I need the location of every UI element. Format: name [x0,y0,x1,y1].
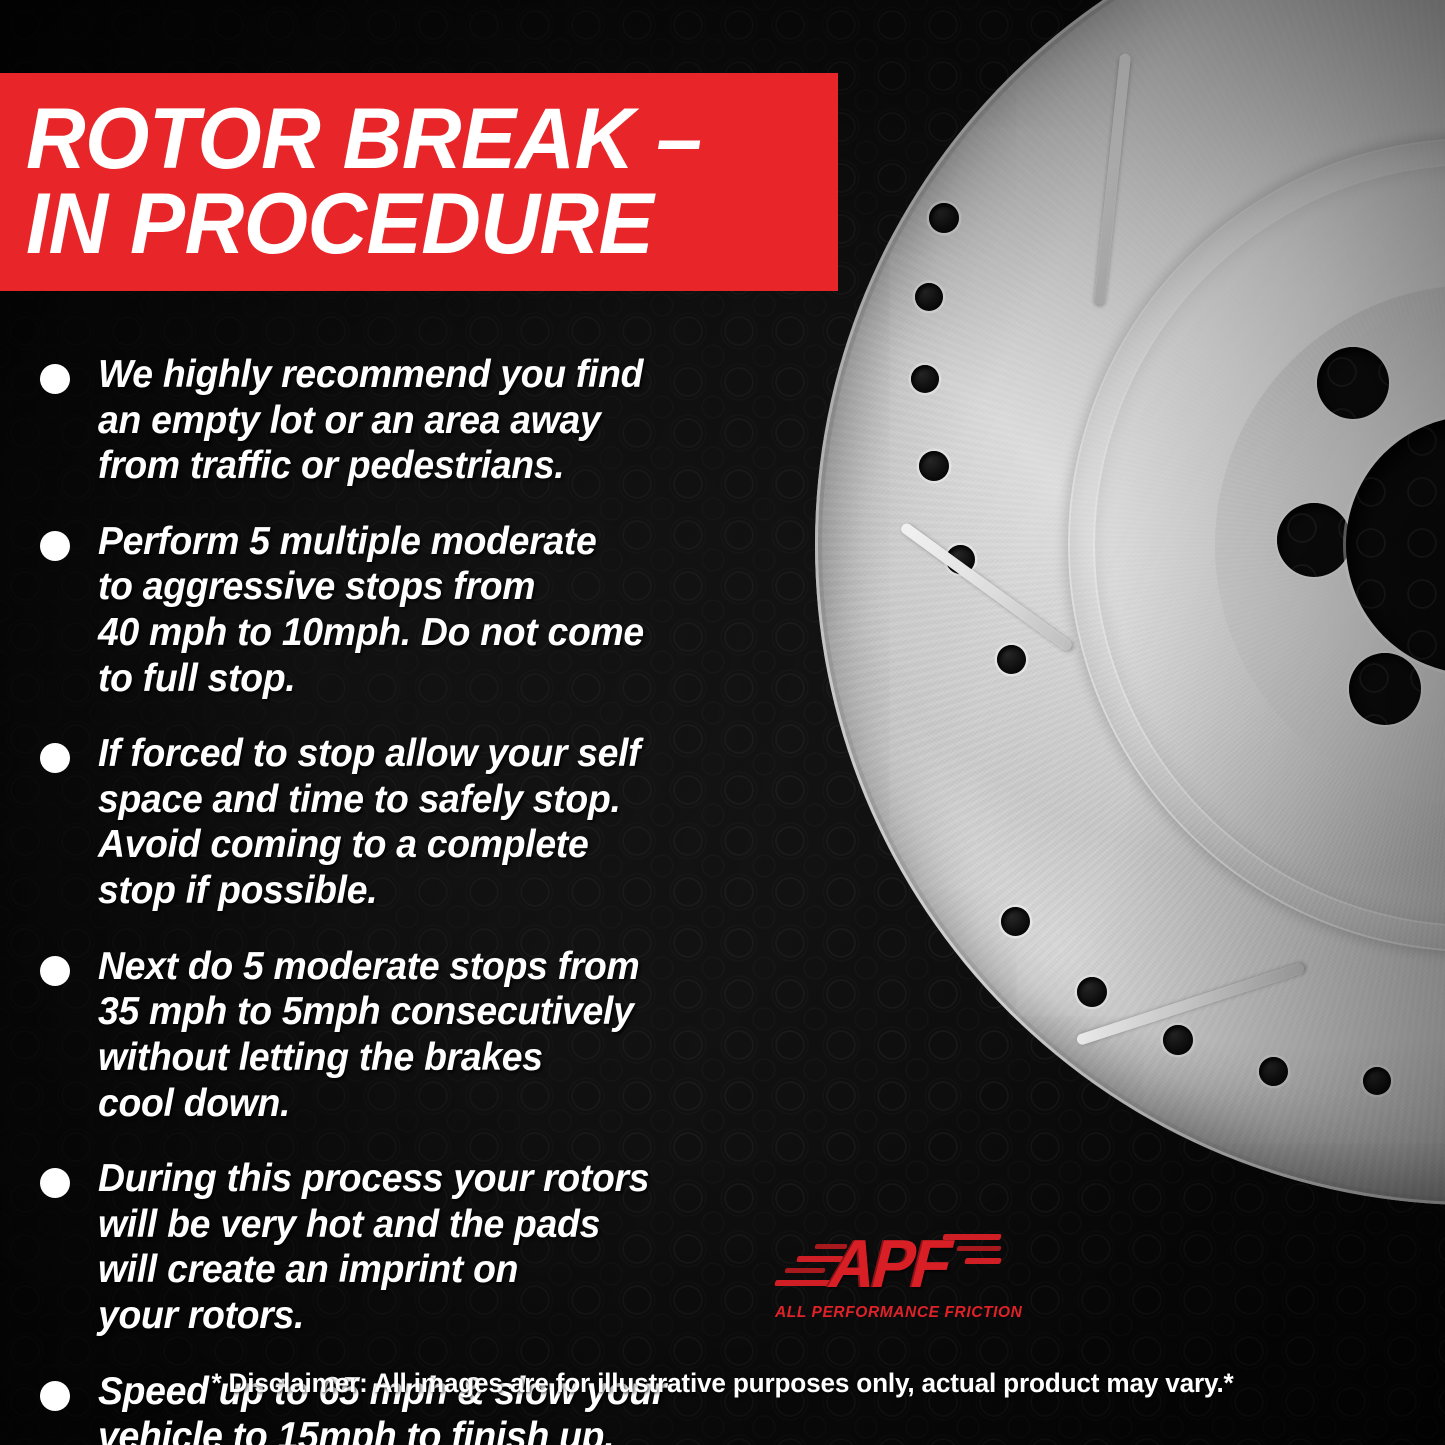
apf-tagline: ALL PERFORMANCE FRICTION [775,1304,1005,1322]
title-line-1: ROTOR BREAK – [26,97,806,182]
bullet-dot-icon [40,1168,70,1198]
speed-streak-icon [956,1246,1001,1251]
bullet-dot-icon [40,531,70,561]
step-text: If forced to stop allow your self space … [98,731,640,913]
procedure-steps-list: We highly recommend you find an empty lo… [40,352,780,1445]
disclaimer-text: * Disclaimer: All images are for illustr… [22,1368,1424,1399]
list-item: We highly recommend you find an empty lo… [40,352,780,489]
list-item: If forced to stop allow your self space … [40,731,780,913]
list-item: Perform 5 multiple moderate to aggressiv… [40,519,780,701]
title-line-2: IN PROCEDURE [26,182,806,267]
apf-logo: APF ALL PERFORMANCE FRICTION [775,1228,1005,1322]
apf-wordmark-graphic: APF [775,1228,1005,1300]
list-item: During this process your rotors will be … [40,1156,780,1338]
step-text: Perform 5 multiple moderate to aggressiv… [98,519,644,701]
apf-wordmark-text: APF [823,1230,957,1298]
title-banner: ROTOR BREAK – IN PROCEDURE [0,73,838,291]
rotor-break-in-poster: ROTOR BREAK – IN PROCEDURE We highly rec… [0,0,1445,1445]
bullet-dot-icon [40,743,70,773]
step-text: We highly recommend you find an empty lo… [98,352,643,489]
bullet-dot-icon [40,364,70,394]
bullet-dot-icon [40,956,70,986]
speed-streak-icon [784,1268,825,1273]
step-text: Next do 5 moderate stops from 35 mph to … [98,944,639,1126]
list-item: Next do 5 moderate stops from 35 mph to … [40,944,780,1126]
speed-streak-icon [964,1258,1001,1264]
step-text: During this process your rotors will be … [98,1156,649,1338]
